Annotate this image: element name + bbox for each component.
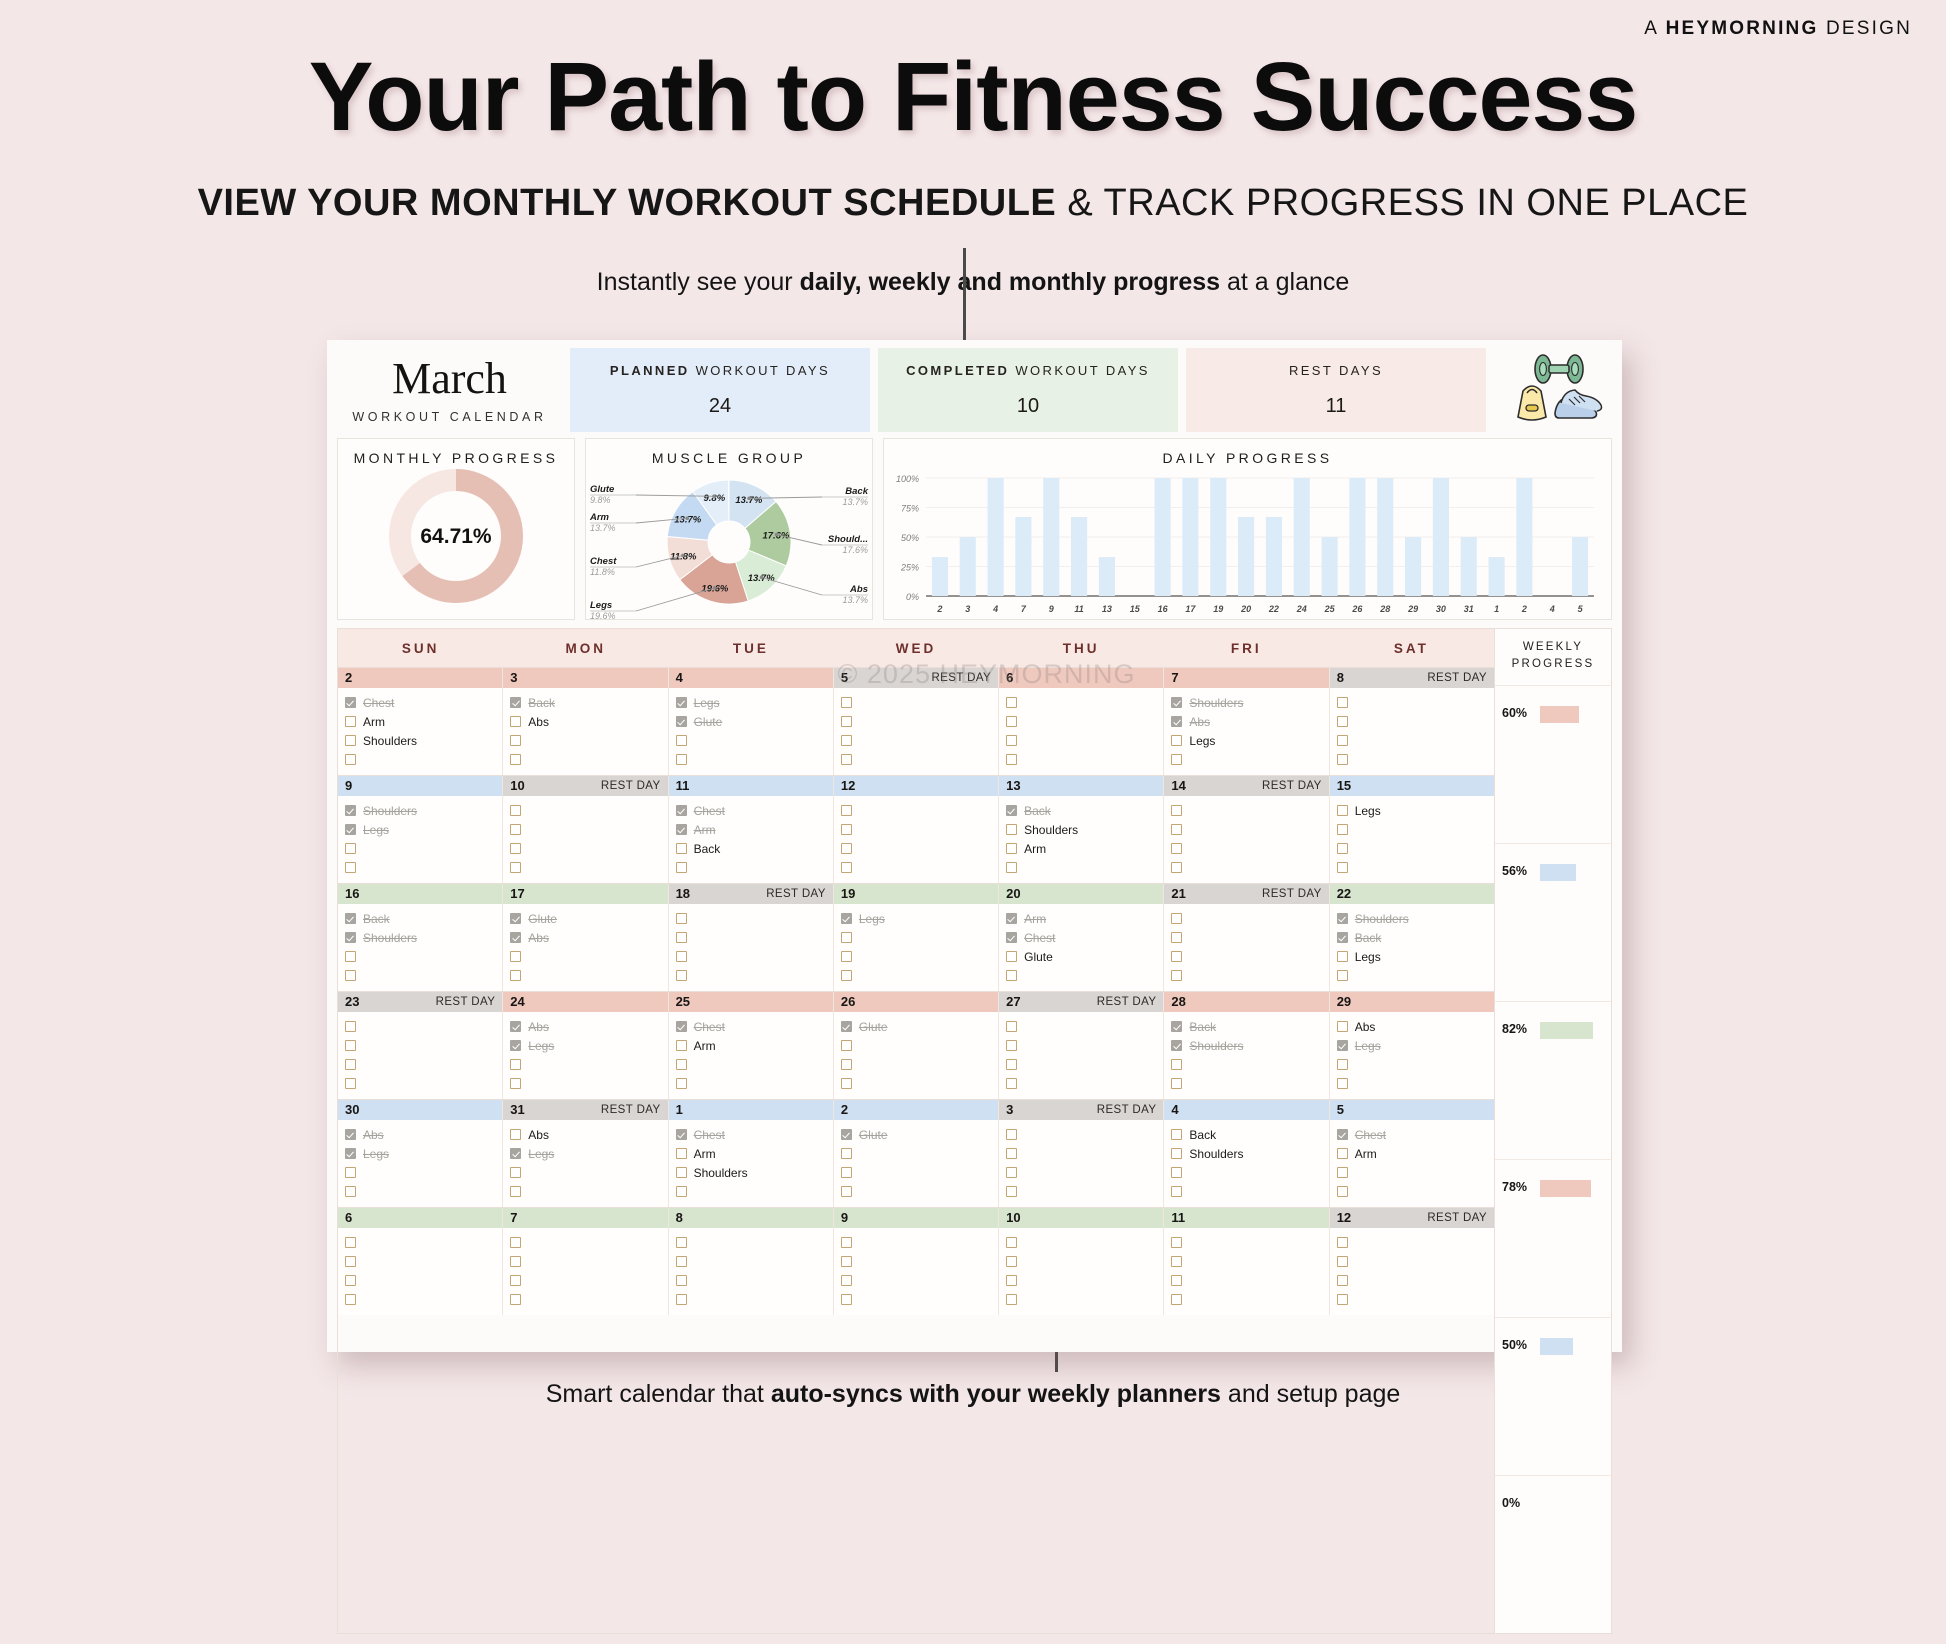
- task-row[interactable]: [1006, 1055, 1156, 1074]
- task-row[interactable]: [841, 731, 991, 750]
- calendar-day-cell[interactable]: 7: [503, 1208, 668, 1315]
- task-checkbox[interactable]: [676, 1237, 687, 1248]
- task-row[interactable]: [345, 858, 495, 877]
- task-checkbox[interactable]: [510, 1294, 521, 1305]
- calendar-day-cell[interactable]: 2ChestArmShoulders: [338, 668, 503, 775]
- task-row[interactable]: [1006, 693, 1156, 712]
- task-row[interactable]: [841, 1233, 991, 1252]
- task-row[interactable]: Arm: [1006, 839, 1156, 858]
- task-row[interactable]: [841, 750, 991, 769]
- task-checkbox[interactable]: [676, 754, 687, 765]
- task-row[interactable]: [1337, 1271, 1487, 1290]
- task-row[interactable]: [841, 858, 991, 877]
- task-row[interactable]: [841, 1074, 991, 1093]
- task-checkbox[interactable]: [1006, 1059, 1017, 1070]
- task-row[interactable]: [510, 966, 660, 985]
- task-checkbox[interactable]: [676, 1186, 687, 1197]
- task-checkbox[interactable]: [676, 1078, 687, 1089]
- task-row[interactable]: [1337, 693, 1487, 712]
- task-row[interactable]: [676, 1074, 826, 1093]
- task-row[interactable]: [345, 1055, 495, 1074]
- task-checkbox[interactable]: [1337, 824, 1348, 835]
- task-checkbox[interactable]: [1006, 1275, 1017, 1286]
- task-row[interactable]: [1337, 712, 1487, 731]
- task-row[interactable]: [841, 1182, 991, 1201]
- task-row[interactable]: [1337, 1055, 1487, 1074]
- task-checkbox[interactable]: [345, 1167, 356, 1178]
- task-checkbox[interactable]: [676, 697, 687, 708]
- task-row[interactable]: Legs: [1337, 801, 1487, 820]
- task-checkbox[interactable]: [1006, 1256, 1017, 1267]
- task-checkbox[interactable]: [1006, 1129, 1017, 1140]
- calendar-day-cell[interactable]: 5REST DAY: [834, 668, 999, 775]
- task-checkbox[interactable]: [510, 913, 521, 924]
- task-row[interactable]: [1006, 1017, 1156, 1036]
- task-checkbox[interactable]: [1171, 1021, 1182, 1032]
- task-checkbox[interactable]: [841, 843, 852, 854]
- task-checkbox[interactable]: [345, 1237, 356, 1248]
- task-row[interactable]: [676, 1233, 826, 1252]
- task-row[interactable]: [1006, 712, 1156, 731]
- task-row[interactable]: [1171, 947, 1321, 966]
- task-checkbox[interactable]: [510, 1237, 521, 1248]
- task-checkbox[interactable]: [1171, 1294, 1182, 1305]
- calendar-day-cell[interactable]: 20ArmChestGlute: [999, 884, 1164, 991]
- task-checkbox[interactable]: [345, 843, 356, 854]
- task-checkbox[interactable]: [1337, 1186, 1348, 1197]
- task-checkbox[interactable]: [841, 1167, 852, 1178]
- task-checkbox[interactable]: [345, 1129, 356, 1140]
- task-checkbox[interactable]: [676, 1040, 687, 1051]
- task-row[interactable]: [1006, 1290, 1156, 1309]
- task-row[interactable]: Abs: [345, 1125, 495, 1144]
- calendar-day-cell[interactable]: 10REST DAY: [503, 776, 668, 883]
- calendar-day-cell[interactable]: 2Glute: [834, 1100, 999, 1207]
- task-checkbox[interactable]: [841, 1059, 852, 1070]
- task-checkbox[interactable]: [841, 1078, 852, 1089]
- task-row[interactable]: Arm: [676, 1036, 826, 1055]
- task-row[interactable]: [1171, 801, 1321, 820]
- task-checkbox[interactable]: [676, 913, 687, 924]
- task-row[interactable]: [510, 858, 660, 877]
- task-checkbox[interactable]: [345, 1294, 356, 1305]
- calendar-day-cell[interactable]: 26Glute: [834, 992, 999, 1099]
- task-row[interactable]: Abs: [1337, 1017, 1487, 1036]
- task-row[interactable]: [1337, 1290, 1487, 1309]
- calendar-day-cell[interactable]: 21REST DAY: [1164, 884, 1329, 991]
- task-row[interactable]: [1171, 750, 1321, 769]
- task-checkbox[interactable]: [345, 805, 356, 816]
- task-checkbox[interactable]: [841, 951, 852, 962]
- task-row[interactable]: [841, 947, 991, 966]
- task-checkbox[interactable]: [1337, 932, 1348, 943]
- calendar-day-cell[interactable]: 30AbsLegs: [338, 1100, 503, 1207]
- task-checkbox[interactable]: [1171, 1148, 1182, 1159]
- task-checkbox[interactable]: [1337, 1129, 1348, 1140]
- task-row[interactable]: [1171, 1182, 1321, 1201]
- task-row[interactable]: [841, 966, 991, 985]
- calendar-day-cell[interactable]: 10: [999, 1208, 1164, 1315]
- task-checkbox[interactable]: [676, 970, 687, 981]
- task-checkbox[interactable]: [676, 1256, 687, 1267]
- calendar-day-cell[interactable]: 31REST DAYAbsLegs: [503, 1100, 668, 1207]
- task-checkbox[interactable]: [1337, 735, 1348, 746]
- task-checkbox[interactable]: [510, 1040, 521, 1051]
- task-row[interactable]: Glute: [841, 1017, 991, 1036]
- task-row[interactable]: [510, 731, 660, 750]
- calendar-day-cell[interactable]: 24AbsLegs: [503, 992, 668, 1099]
- task-checkbox[interactable]: [841, 1275, 852, 1286]
- task-row[interactable]: [841, 801, 991, 820]
- calendar-day-cell[interactable]: 18REST DAY: [669, 884, 834, 991]
- task-checkbox[interactable]: [676, 805, 687, 816]
- task-row[interactable]: [676, 966, 826, 985]
- task-checkbox[interactable]: [841, 697, 852, 708]
- task-row[interactable]: Shoulders: [1006, 820, 1156, 839]
- calendar-day-cell[interactable]: 29AbsLegs: [1330, 992, 1494, 1099]
- task-checkbox[interactable]: [510, 843, 521, 854]
- task-checkbox[interactable]: [510, 1186, 521, 1197]
- task-row[interactable]: Back: [1171, 1017, 1321, 1036]
- task-checkbox[interactable]: [676, 1129, 687, 1140]
- task-row[interactable]: [510, 801, 660, 820]
- task-checkbox[interactable]: [841, 862, 852, 873]
- task-checkbox[interactable]: [1171, 697, 1182, 708]
- calendar-day-cell[interactable]: 14REST DAY: [1164, 776, 1329, 883]
- task-checkbox[interactable]: [510, 932, 521, 943]
- task-row[interactable]: [1006, 750, 1156, 769]
- calendar-day-cell[interactable]: 9ShouldersLegs: [338, 776, 503, 883]
- task-checkbox[interactable]: [510, 1078, 521, 1089]
- task-row[interactable]: Arm: [676, 1144, 826, 1163]
- task-row[interactable]: [1337, 1163, 1487, 1182]
- task-row[interactable]: [841, 712, 991, 731]
- task-checkbox[interactable]: [345, 824, 356, 835]
- task-row[interactable]: [1171, 1290, 1321, 1309]
- task-checkbox[interactable]: [345, 1059, 356, 1070]
- task-checkbox[interactable]: [1337, 1078, 1348, 1089]
- task-checkbox[interactable]: [1006, 716, 1017, 727]
- task-row[interactable]: Abs: [510, 712, 660, 731]
- task-row[interactable]: [676, 1055, 826, 1074]
- task-row[interactable]: Back: [1337, 928, 1487, 947]
- task-checkbox[interactable]: [345, 1148, 356, 1159]
- task-checkbox[interactable]: [676, 1148, 687, 1159]
- task-checkbox[interactable]: [841, 716, 852, 727]
- task-row[interactable]: [1337, 1074, 1487, 1093]
- task-row[interactable]: Glute: [841, 1125, 991, 1144]
- task-checkbox[interactable]: [510, 754, 521, 765]
- task-checkbox[interactable]: [1006, 1078, 1017, 1089]
- task-checkbox[interactable]: [841, 1021, 852, 1032]
- task-checkbox[interactable]: [510, 805, 521, 816]
- task-checkbox[interactable]: [1171, 805, 1182, 816]
- calendar-day-cell[interactable]: 23REST DAY: [338, 992, 503, 1099]
- task-row[interactable]: Shoulders: [1171, 1036, 1321, 1055]
- task-row[interactable]: Abs: [510, 1125, 660, 1144]
- task-checkbox[interactable]: [345, 1021, 356, 1032]
- task-row[interactable]: Chest: [676, 801, 826, 820]
- task-row[interactable]: [345, 966, 495, 985]
- task-checkbox[interactable]: [1171, 913, 1182, 924]
- task-row[interactable]: [1006, 1252, 1156, 1271]
- task-row[interactable]: Legs: [841, 909, 991, 928]
- task-checkbox[interactable]: [345, 951, 356, 962]
- task-checkbox[interactable]: [1006, 1148, 1017, 1159]
- task-row[interactable]: [510, 1074, 660, 1093]
- task-row[interactable]: [510, 1233, 660, 1252]
- task-row[interactable]: [841, 1055, 991, 1074]
- task-checkbox[interactable]: [1006, 1237, 1017, 1248]
- calendar-day-cell[interactable]: 19Legs: [834, 884, 999, 991]
- task-checkbox[interactable]: [1006, 970, 1017, 981]
- task-checkbox[interactable]: [1337, 754, 1348, 765]
- task-row[interactable]: [841, 1271, 991, 1290]
- task-row[interactable]: Legs: [510, 1144, 660, 1163]
- task-checkbox[interactable]: [841, 1148, 852, 1159]
- task-checkbox[interactable]: [1171, 932, 1182, 943]
- task-checkbox[interactable]: [1006, 824, 1017, 835]
- task-row[interactable]: [510, 1055, 660, 1074]
- task-checkbox[interactable]: [1337, 843, 1348, 854]
- calendar-day-cell[interactable]: 5ChestArm: [1330, 1100, 1494, 1207]
- task-checkbox[interactable]: [1337, 862, 1348, 873]
- task-row[interactable]: [676, 1182, 826, 1201]
- task-row[interactable]: Back: [345, 909, 495, 928]
- task-checkbox[interactable]: [1337, 805, 1348, 816]
- calendar-day-cell[interactable]: 8REST DAY: [1330, 668, 1494, 775]
- task-row[interactable]: [676, 947, 826, 966]
- task-row[interactable]: [676, 750, 826, 769]
- task-checkbox[interactable]: [1006, 951, 1017, 962]
- task-checkbox[interactable]: [1171, 1059, 1182, 1070]
- task-checkbox[interactable]: [676, 1059, 687, 1070]
- calendar-day-cell[interactable]: 16BackShoulders: [338, 884, 503, 991]
- task-row[interactable]: [1006, 858, 1156, 877]
- task-checkbox[interactable]: [676, 824, 687, 835]
- task-row[interactable]: [345, 1074, 495, 1093]
- task-checkbox[interactable]: [1171, 824, 1182, 835]
- task-checkbox[interactable]: [1171, 754, 1182, 765]
- task-row[interactable]: [345, 1036, 495, 1055]
- calendar-day-cell[interactable]: 8: [669, 1208, 834, 1315]
- task-row[interactable]: [510, 750, 660, 769]
- task-checkbox[interactable]: [1006, 913, 1017, 924]
- task-row[interactable]: [345, 750, 495, 769]
- task-row[interactable]: Shoulders: [1171, 693, 1321, 712]
- task-checkbox[interactable]: [1171, 1040, 1182, 1051]
- calendar-day-cell[interactable]: 4BackShoulders: [1164, 1100, 1329, 1207]
- task-row[interactable]: [510, 947, 660, 966]
- task-row[interactable]: [841, 1036, 991, 1055]
- task-row[interactable]: [1337, 750, 1487, 769]
- task-checkbox[interactable]: [841, 913, 852, 924]
- task-row[interactable]: [1171, 1271, 1321, 1290]
- task-row[interactable]: [841, 839, 991, 858]
- task-row[interactable]: [1337, 1233, 1487, 1252]
- task-row[interactable]: [510, 1163, 660, 1182]
- task-checkbox[interactable]: [510, 697, 521, 708]
- task-checkbox[interactable]: [1337, 1275, 1348, 1286]
- task-row[interactable]: [1337, 1182, 1487, 1201]
- task-checkbox[interactable]: [345, 970, 356, 981]
- task-row[interactable]: Back: [1006, 801, 1156, 820]
- task-checkbox[interactable]: [1337, 1167, 1348, 1178]
- task-row[interactable]: [1006, 731, 1156, 750]
- calendar-day-cell[interactable]: 3REST DAY: [999, 1100, 1164, 1207]
- task-row[interactable]: [1006, 1144, 1156, 1163]
- task-row[interactable]: [676, 928, 826, 947]
- task-checkbox[interactable]: [1337, 697, 1348, 708]
- calendar-day-cell[interactable]: 28BackShoulders: [1164, 992, 1329, 1099]
- task-checkbox[interactable]: [1006, 1167, 1017, 1178]
- task-row[interactable]: Legs: [1337, 1036, 1487, 1055]
- task-row[interactable]: [345, 1017, 495, 1036]
- task-row[interactable]: [676, 1252, 826, 1271]
- task-checkbox[interactable]: [1171, 1275, 1182, 1286]
- calendar-day-cell[interactable]: 11ChestArmBack: [669, 776, 834, 883]
- task-checkbox[interactable]: [1337, 1040, 1348, 1051]
- task-checkbox[interactable]: [1171, 951, 1182, 962]
- task-row[interactable]: [1171, 1074, 1321, 1093]
- task-row[interactable]: [1006, 1182, 1156, 1201]
- task-checkbox[interactable]: [1171, 735, 1182, 746]
- task-row[interactable]: [841, 1144, 991, 1163]
- task-checkbox[interactable]: [1006, 1021, 1017, 1032]
- task-row[interactable]: [676, 858, 826, 877]
- task-checkbox[interactable]: [841, 1237, 852, 1248]
- task-row[interactable]: Shoulders: [345, 928, 495, 947]
- task-row[interactable]: [1006, 966, 1156, 985]
- calendar-day-cell[interactable]: 4LegsGlute: [669, 668, 834, 775]
- task-row[interactable]: Back: [510, 693, 660, 712]
- task-checkbox[interactable]: [1337, 716, 1348, 727]
- task-checkbox[interactable]: [1171, 1167, 1182, 1178]
- task-checkbox[interactable]: [676, 843, 687, 854]
- task-row[interactable]: Legs: [345, 820, 495, 839]
- task-row[interactable]: [510, 1252, 660, 1271]
- task-row[interactable]: Abs: [1171, 712, 1321, 731]
- task-row[interactable]: [841, 693, 991, 712]
- task-checkbox[interactable]: [345, 735, 356, 746]
- task-checkbox[interactable]: [1006, 697, 1017, 708]
- task-row[interactable]: Shoulders: [1337, 909, 1487, 928]
- task-checkbox[interactable]: [345, 1040, 356, 1051]
- task-row[interactable]: [510, 1290, 660, 1309]
- task-row[interactable]: [345, 1252, 495, 1271]
- task-checkbox[interactable]: [1171, 1237, 1182, 1248]
- task-row[interactable]: [510, 820, 660, 839]
- task-checkbox[interactable]: [345, 697, 356, 708]
- task-row[interactable]: [676, 1271, 826, 1290]
- task-checkbox[interactable]: [1337, 1021, 1348, 1032]
- task-checkbox[interactable]: [1006, 805, 1017, 816]
- task-checkbox[interactable]: [1006, 1186, 1017, 1197]
- task-row[interactable]: [345, 1290, 495, 1309]
- task-row[interactable]: Shoulders: [1171, 1144, 1321, 1163]
- calendar-day-cell[interactable]: 11: [1164, 1208, 1329, 1315]
- calendar-day-cell[interactable]: 6: [999, 668, 1164, 775]
- task-row[interactable]: [1006, 1233, 1156, 1252]
- calendar-day-cell[interactable]: 12: [834, 776, 999, 883]
- calendar-day-cell[interactable]: 13BackShouldersArm: [999, 776, 1164, 883]
- calendar-day-cell[interactable]: 6: [338, 1208, 503, 1315]
- calendar-day-cell[interactable]: 17GluteAbs: [503, 884, 668, 991]
- task-row[interactable]: [345, 1271, 495, 1290]
- calendar-day-cell[interactable]: 1ChestArmShoulders: [669, 1100, 834, 1207]
- task-row[interactable]: Shoulders: [345, 801, 495, 820]
- task-checkbox[interactable]: [676, 1275, 687, 1286]
- task-row[interactable]: [1171, 1055, 1321, 1074]
- task-row[interactable]: [345, 1163, 495, 1182]
- task-row[interactable]: Back: [676, 839, 826, 858]
- task-checkbox[interactable]: [510, 970, 521, 981]
- task-row[interactable]: [1337, 966, 1487, 985]
- task-row[interactable]: [841, 820, 991, 839]
- task-row[interactable]: [345, 1233, 495, 1252]
- task-checkbox[interactable]: [841, 1040, 852, 1051]
- task-row[interactable]: Chest: [676, 1017, 826, 1036]
- task-checkbox[interactable]: [676, 932, 687, 943]
- task-row[interactable]: Legs: [1337, 947, 1487, 966]
- task-row[interactable]: Glute: [1006, 947, 1156, 966]
- task-row[interactable]: Chest: [345, 693, 495, 712]
- task-row[interactable]: [676, 1290, 826, 1309]
- task-checkbox[interactable]: [1006, 932, 1017, 943]
- task-row[interactable]: Legs: [345, 1144, 495, 1163]
- task-row[interactable]: [1337, 839, 1487, 858]
- task-row[interactable]: Legs: [676, 693, 826, 712]
- task-checkbox[interactable]: [676, 1021, 687, 1032]
- task-checkbox[interactable]: [345, 1186, 356, 1197]
- task-row[interactable]: Arm: [1006, 909, 1156, 928]
- task-checkbox[interactable]: [510, 824, 521, 835]
- task-row[interactable]: Glute: [676, 712, 826, 731]
- task-row[interactable]: Glute: [510, 909, 660, 928]
- task-row[interactable]: [1337, 858, 1487, 877]
- calendar-day-cell[interactable]: 15Legs: [1330, 776, 1494, 883]
- calendar-day-cell[interactable]: 9: [834, 1208, 999, 1315]
- task-row[interactable]: Arm: [345, 712, 495, 731]
- task-row[interactable]: Shoulders: [676, 1163, 826, 1182]
- task-checkbox[interactable]: [510, 1256, 521, 1267]
- task-row[interactable]: Arm: [1337, 1144, 1487, 1163]
- task-row[interactable]: Abs: [510, 1017, 660, 1036]
- calendar-day-cell[interactable]: 7ShouldersAbsLegs: [1164, 668, 1329, 775]
- task-row[interactable]: [1171, 928, 1321, 947]
- task-row[interactable]: [510, 839, 660, 858]
- task-checkbox[interactable]: [345, 862, 356, 873]
- task-row[interactable]: Chest: [1337, 1125, 1487, 1144]
- task-row[interactable]: [841, 1163, 991, 1182]
- task-row[interactable]: [1006, 1271, 1156, 1290]
- task-checkbox[interactable]: [1337, 1237, 1348, 1248]
- task-row[interactable]: [1171, 1163, 1321, 1182]
- task-checkbox[interactable]: [1337, 1059, 1348, 1070]
- task-row[interactable]: [1337, 1252, 1487, 1271]
- task-checkbox[interactable]: [345, 1256, 356, 1267]
- task-checkbox[interactable]: [1171, 970, 1182, 981]
- task-checkbox[interactable]: [345, 754, 356, 765]
- task-checkbox[interactable]: [1006, 862, 1017, 873]
- task-checkbox[interactable]: [1337, 1294, 1348, 1305]
- task-checkbox[interactable]: [510, 862, 521, 873]
- task-checkbox[interactable]: [510, 1129, 521, 1140]
- task-row[interactable]: [1171, 839, 1321, 858]
- task-checkbox[interactable]: [841, 754, 852, 765]
- task-checkbox[interactable]: [676, 1167, 687, 1178]
- task-row[interactable]: [1337, 731, 1487, 750]
